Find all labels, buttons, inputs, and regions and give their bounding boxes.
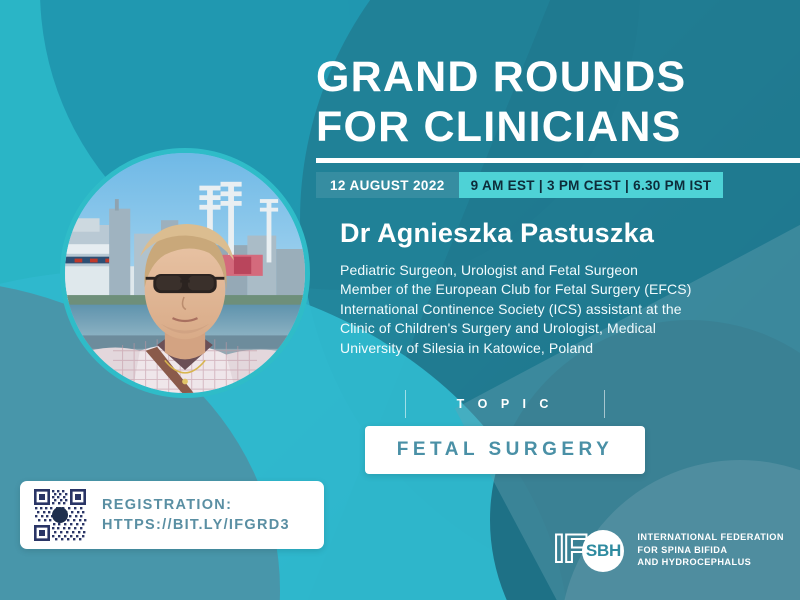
event-date: 12 AUGUST 2022 bbox=[316, 172, 459, 198]
title-line-2: FOR CLINICIANS bbox=[316, 102, 786, 152]
event-meta-strip: 12 AUGUST 2022 9 AM EST | 3 PM CEST | 6.… bbox=[316, 172, 723, 198]
speaker-name: Dr Agnieszka Pastuszka bbox=[340, 218, 654, 249]
logo-text-line: FOR SPINA BIFIDA bbox=[637, 544, 784, 556]
registration-box[interactable]: REGISTRATION: HTTPS://BIT.LY/IFGRD3 bbox=[20, 481, 324, 549]
logo-text-line: INTERNATIONAL FEDERATION bbox=[637, 531, 784, 543]
topic-value: FETAL SURGERY bbox=[397, 439, 614, 461]
title-line-1: GRAND ROUNDS bbox=[316, 52, 786, 102]
speaker-photo bbox=[60, 148, 310, 398]
ifsbh-logo-mark: IF SBH bbox=[553, 528, 631, 572]
event-times-badge: 9 AM EST | 3 PM CEST | 6.30 PM IST bbox=[459, 172, 724, 198]
logo-circle: SBH bbox=[582, 530, 624, 572]
title-divider bbox=[316, 158, 800, 163]
webinar-poster: GRAND ROUNDS FOR CLINICIANS 12 AUGUST 20… bbox=[0, 0, 800, 600]
logo-text-line: AND HYDROCEPHALUS bbox=[637, 556, 784, 568]
speaker-bio-line: International Continence Society (ICS) a… bbox=[340, 300, 782, 319]
page-title: GRAND ROUNDS FOR CLINICIANS bbox=[316, 52, 786, 152]
topic-label: T O P I C bbox=[457, 397, 554, 411]
registration-label: REGISTRATION: bbox=[102, 495, 290, 515]
registration-url: HTTPS://BIT.LY/IFGRD3 bbox=[102, 515, 290, 535]
speaker-bio-line: Pediatric Surgeon, Urologist and Fetal S… bbox=[340, 261, 782, 280]
speaker-bio-line: University of Silesia in Katowice, Polan… bbox=[340, 339, 782, 358]
qr-code-icon[interactable] bbox=[32, 487, 88, 543]
registration-text: REGISTRATION: HTTPS://BIT.LY/IFGRD3 bbox=[102, 495, 290, 535]
speaker-bio: Pediatric Surgeon, Urologist and Fetal S… bbox=[340, 261, 782, 358]
topic-box: FETAL SURGERY bbox=[365, 426, 645, 474]
speaker-bio-line: Clinic of Children's Surgery and Urologi… bbox=[340, 319, 782, 338]
logo-sbh-letters: SBH bbox=[586, 541, 621, 561]
speaker-photo-image bbox=[65, 153, 305, 393]
ifsbh-logo-text: INTERNATIONAL FEDERATION FOR SPINA BIFID… bbox=[637, 531, 784, 568]
topic-header-frame: T O P I C bbox=[405, 390, 605, 418]
speaker-bio-line: Member of the European Club for Fetal Su… bbox=[340, 280, 782, 299]
ifsbh-logo: IF SBH INTERNATIONAL FEDERATION FOR SPIN… bbox=[553, 528, 784, 572]
qr-center-logo bbox=[52, 507, 68, 523]
